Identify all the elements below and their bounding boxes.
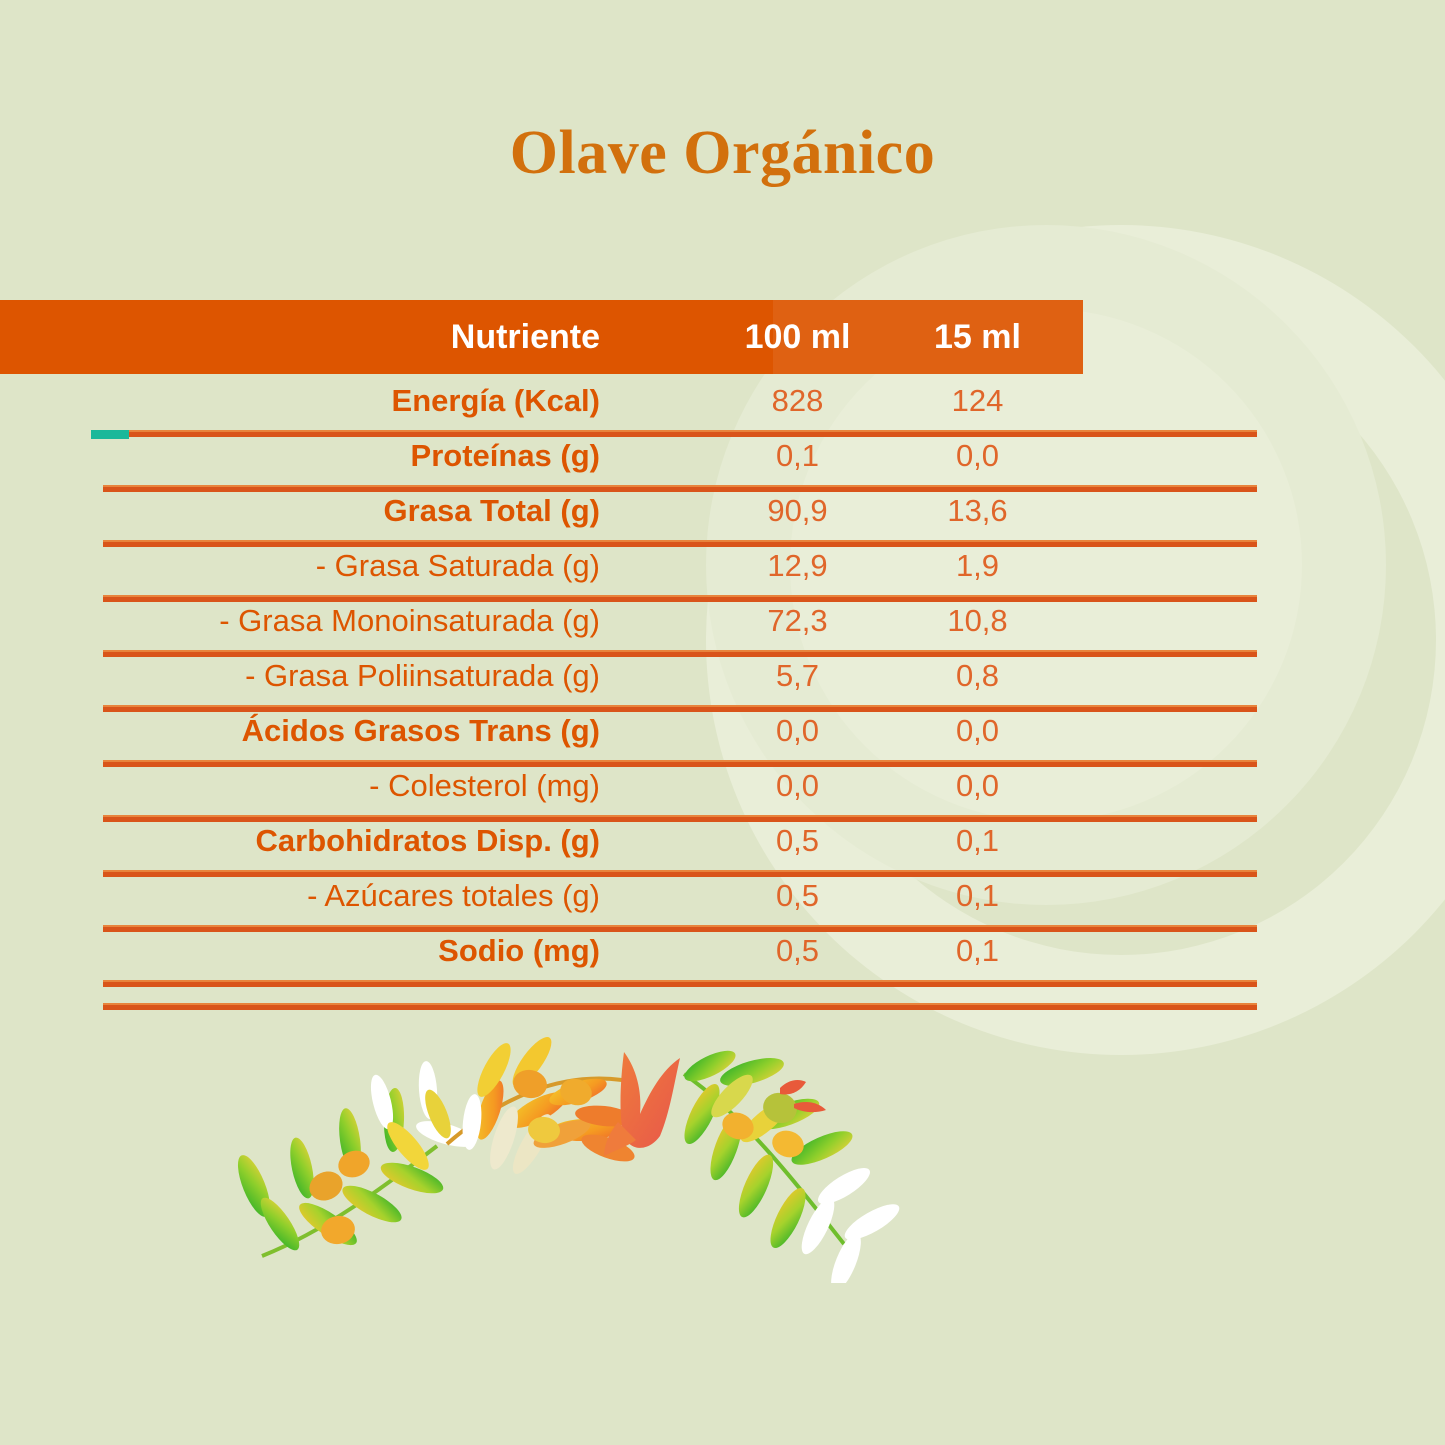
row-value-15ml: 0,1 [880,821,1075,861]
row-label: Energía (Kcal) [392,381,600,421]
row-divider [103,980,1257,987]
row-value-15ml: 0,0 [880,711,1075,751]
nutrition-label-page: Olave Orgánico Nutriente 100 ml 15 ml En… [0,0,1445,1445]
row-label: Sodio (mg) [438,931,600,971]
column-header-nutrient: Nutriente [451,318,600,357]
row-label: - Grasa Monoinsaturada (g) [219,601,600,641]
row-value-100ml: 12,9 [700,546,895,586]
row-value-100ml: 0,5 [700,876,895,916]
row-value-15ml: 0,1 [880,876,1075,916]
row-value-100ml: 828 [700,381,895,421]
row-value-15ml: 0,0 [880,436,1075,476]
column-header-15ml: 15 ml [880,318,1075,357]
table-row: - Grasa Monoinsaturada (g)72,310,8 [0,594,1445,649]
row-label: Ácidos Grasos Trans (g) [242,711,600,751]
table-row: Energía (Kcal)828124 [0,374,1445,429]
row-value-15ml: 13,6 [880,491,1075,531]
table-row: Proteínas (g)0,10,0 [0,429,1445,484]
row-label: Carbohidratos Disp. (g) [256,821,600,861]
table-row: - Colesterol (mg)0,00,0 [0,759,1445,814]
table-row: Ácidos Grasos Trans (g)0,00,0 [0,704,1445,759]
table-row: Sodio (mg)0,50,1 [0,924,1445,979]
table-row: - Azúcares totales (g)0,50,1 [0,869,1445,924]
page-title: Olave Orgánico [0,118,1445,189]
row-value-15ml: 10,8 [880,601,1075,641]
row-value-100ml: 5,7 [700,656,895,696]
row-value-15ml: 0,0 [880,766,1075,806]
row-label: - Grasa Poliinsaturada (g) [245,656,600,696]
row-value-100ml: 0,0 [700,766,895,806]
row-label: Grasa Total (g) [384,491,600,531]
table-row: Grasa Total (g)90,913,6 [0,484,1445,539]
row-label: - Grasa Saturada (g) [316,546,600,586]
olive-branch-illustration [232,1018,932,1283]
row-label: - Colesterol (mg) [369,766,600,806]
table-bottom-divider [103,1003,1257,1010]
row-value-100ml: 0,5 [700,821,895,861]
row-label: - Azúcares totales (g) [307,876,600,916]
row-value-100ml: 72,3 [700,601,895,641]
table-header-band: Nutriente 100 ml 15 ml [0,300,1083,374]
row-value-15ml: 124 [880,381,1075,421]
row-label: Proteínas (g) [411,436,600,476]
row-value-15ml: 0,8 [880,656,1075,696]
row-value-15ml: 0,1 [880,931,1075,971]
row-value-100ml: 0,0 [700,711,895,751]
row-value-100ml: 0,5 [700,931,895,971]
row-value-100ml: 90,9 [700,491,895,531]
row-value-100ml: 0,1 [700,436,895,476]
column-header-100ml: 100 ml [700,318,895,357]
row-value-15ml: 1,9 [880,546,1075,586]
table-row: - Grasa Poliinsaturada (g)5,70,8 [0,649,1445,704]
table-row: - Grasa Saturada (g)12,91,9 [0,539,1445,594]
table-row: Carbohidratos Disp. (g)0,50,1 [0,814,1445,869]
